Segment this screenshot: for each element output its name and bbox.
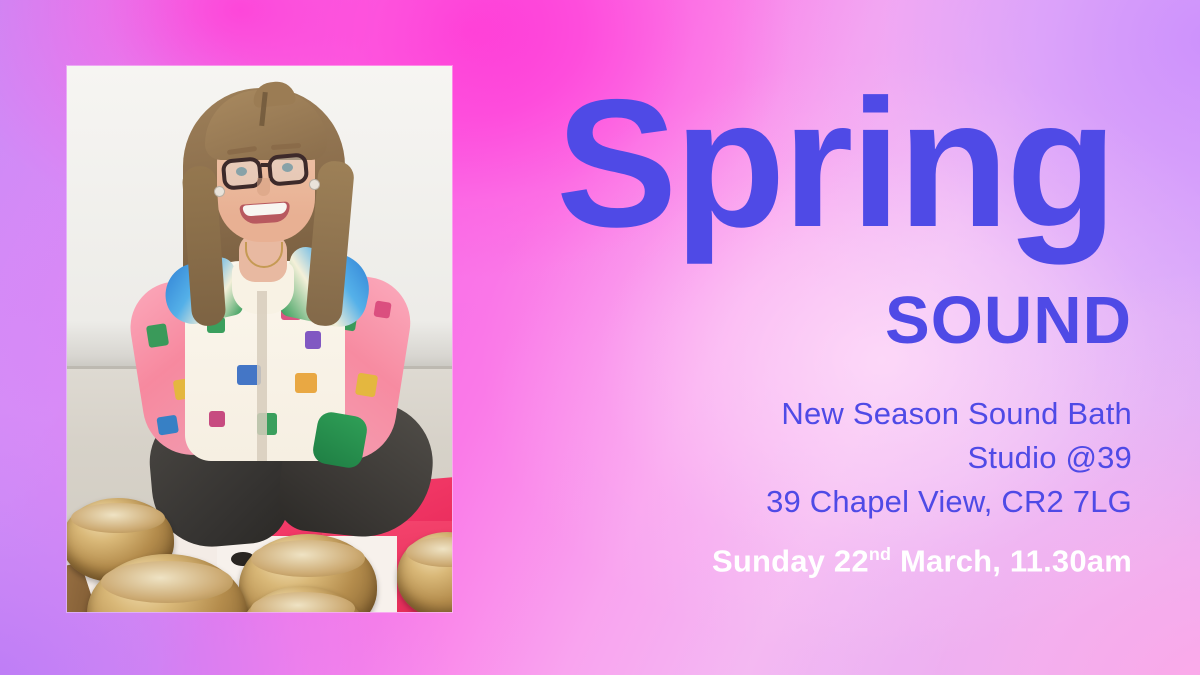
- photo-green-cuff: [311, 410, 369, 470]
- photo-earring-left: [215, 187, 224, 196]
- jacket-motif: [295, 373, 317, 393]
- photo-glasses-bridge: [261, 163, 270, 167]
- jacket-motif: [355, 373, 378, 398]
- detail-line-event: New Season Sound Bath: [512, 392, 1132, 436]
- poster-subtitle: SOUND: [885, 287, 1132, 354]
- photo-glasses-lens-right: [267, 152, 310, 186]
- date-prefix: Sunday 22: [712, 543, 869, 578]
- photo-earring-right: [310, 180, 319, 189]
- poster-title: Spring: [556, 72, 1136, 254]
- photo-placket: [257, 291, 267, 461]
- detail-line-venue: Studio @39: [512, 436, 1132, 480]
- event-poster: Spring SOUND New Season Sound Bath Studi…: [0, 0, 1200, 675]
- jacket-motif: [156, 415, 179, 436]
- date-ordinal: nd: [869, 544, 891, 564]
- photo-nose: [257, 178, 270, 196]
- date-suffix: March, 11.30am: [891, 543, 1132, 578]
- jacket-motif: [373, 300, 391, 318]
- jacket-motif: [209, 411, 225, 427]
- jacket-motif: [305, 331, 321, 349]
- event-photo: [67, 66, 452, 612]
- poster-details: New Season Sound Bath Studio @39 39 Chap…: [512, 392, 1132, 524]
- jacket-motif: [146, 323, 169, 348]
- poster-date-time: Sunday 22nd March, 11.30am: [712, 534, 1132, 581]
- detail-line-address: 39 Chapel View, CR2 7LG: [512, 480, 1132, 524]
